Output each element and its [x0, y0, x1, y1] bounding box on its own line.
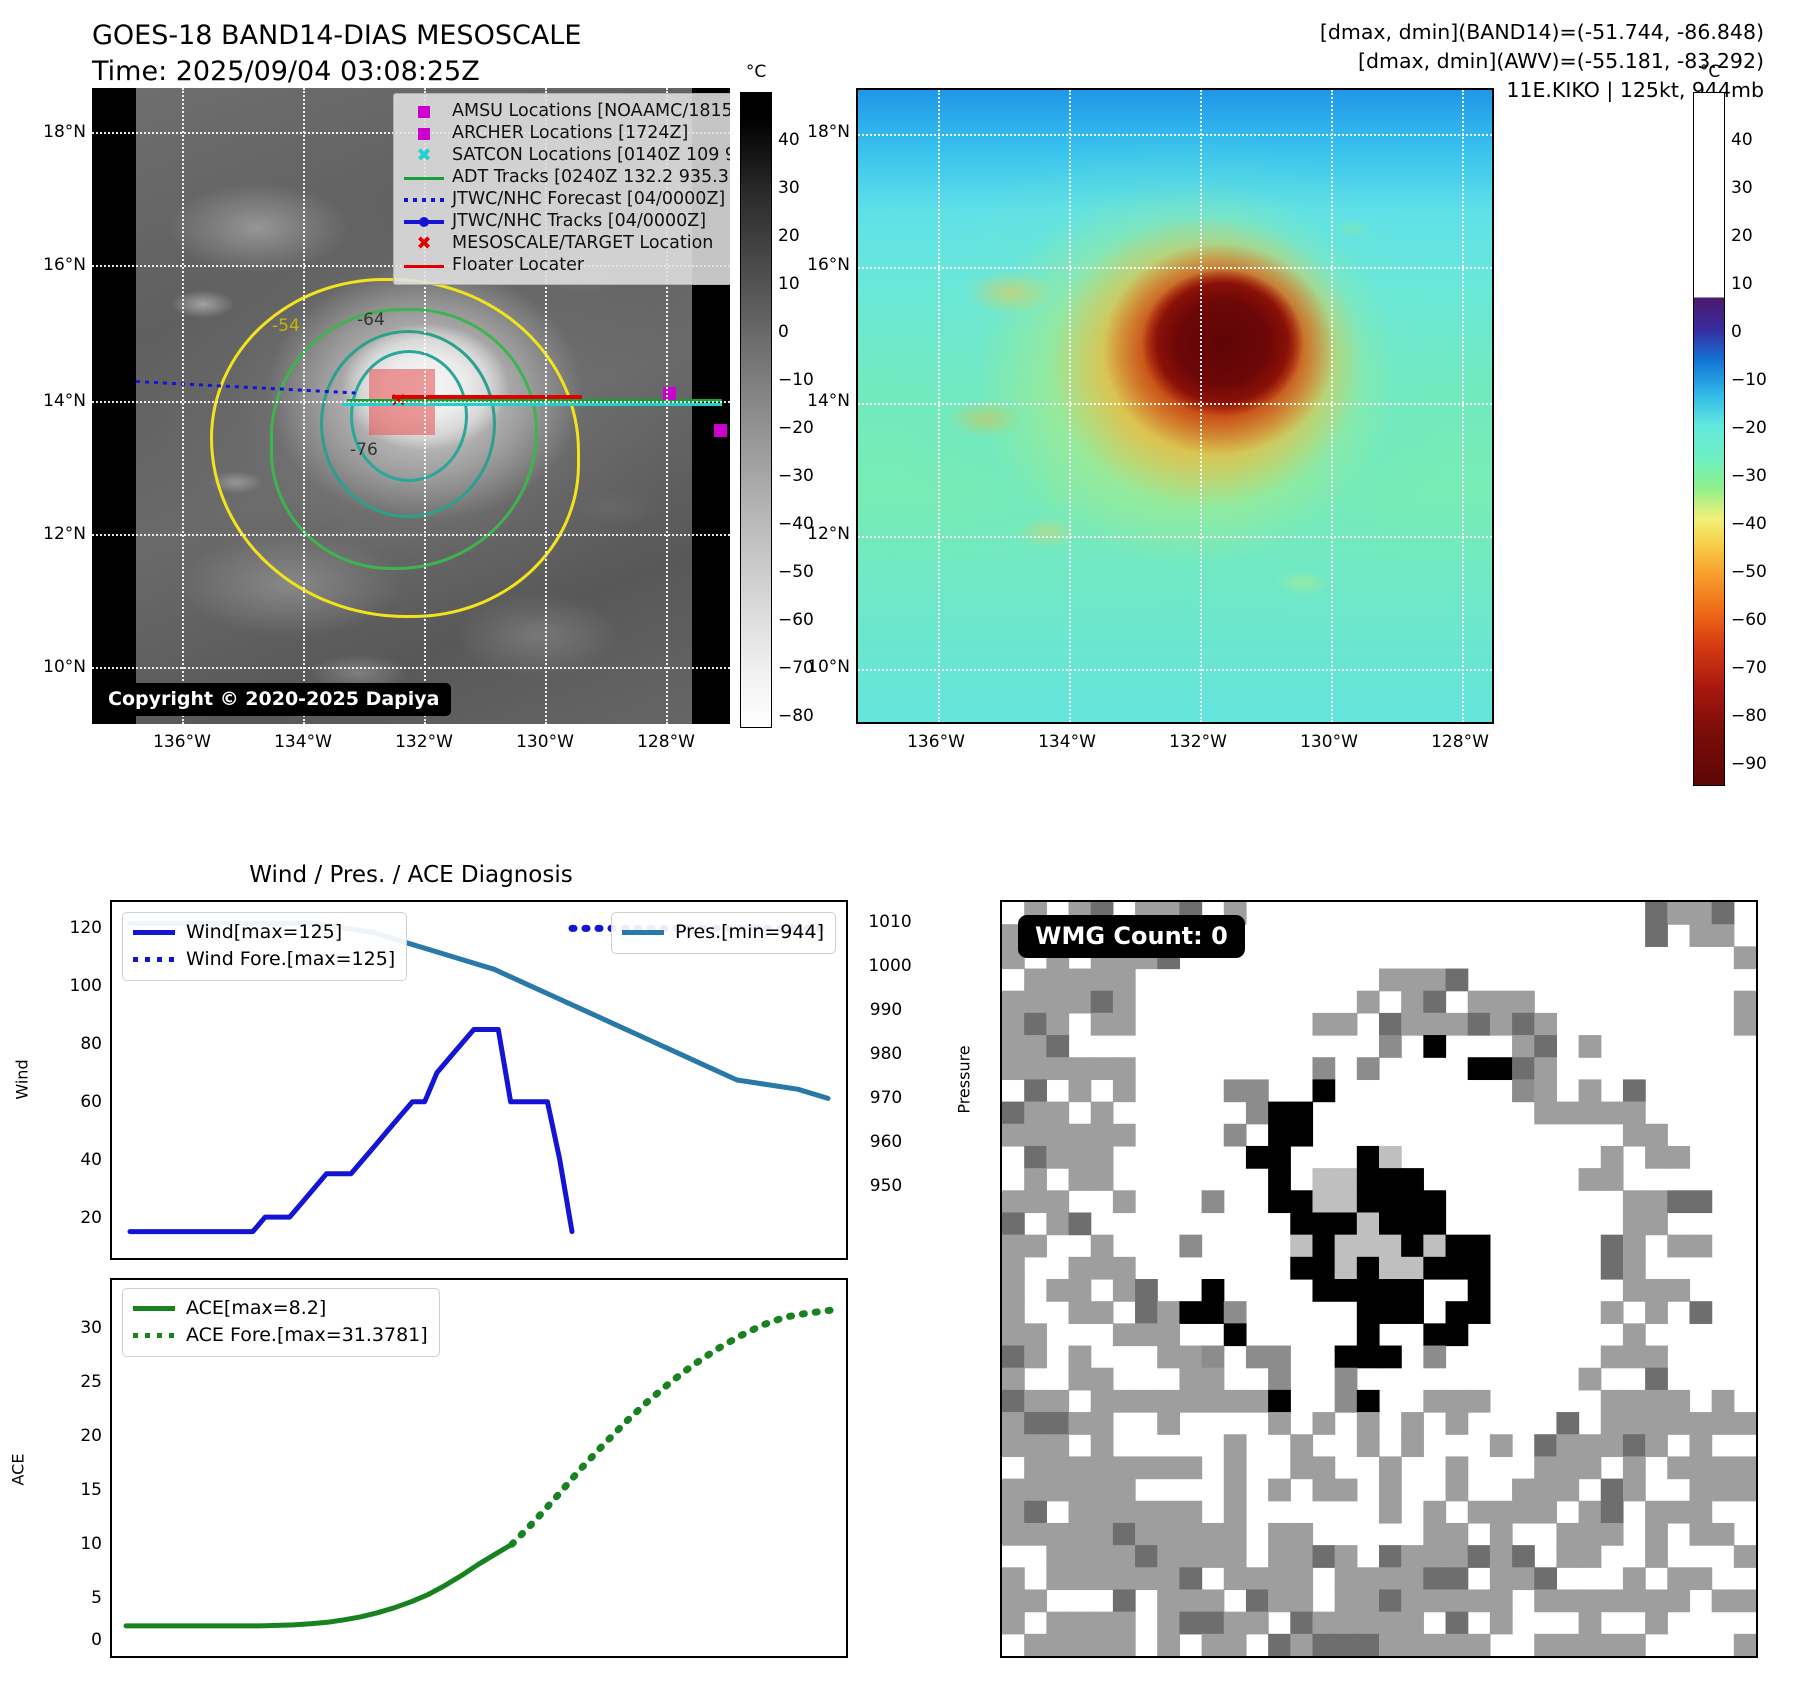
pressure-tick: 960	[870, 1132, 902, 1152]
enhanced-ir-colorbar	[1693, 92, 1725, 786]
wind-tick: 100	[70, 976, 102, 996]
grid-line-horizontal	[858, 134, 1492, 136]
legend-item[interactable]: JTWC/NHC Forecast [04/0000Z]	[401, 189, 730, 211]
grid-line-vertical	[303, 88, 305, 724]
legend-label: Pres.[min=944]	[675, 923, 824, 942]
colorbar-tick: 0	[1731, 322, 1742, 342]
line-icon	[131, 1306, 177, 1311]
legend-label: MESOSCALE/TARGET Location	[452, 235, 713, 253]
title-line-1: GOES-18 BAND14-DIAS MESOSCALE	[92, 20, 581, 51]
line-icon	[131, 930, 177, 935]
lon-tick: 136°W	[153, 732, 211, 752]
goes18-band14-grayscale-panel[interactable]: -54 -64 -76 ✕ AMSU Locations [NOAAMC/181…	[92, 88, 730, 724]
ace-tick: 5	[91, 1588, 102, 1608]
grid-line-horizontal	[858, 669, 1492, 671]
legend-label: ACE[max=8.2]	[186, 1299, 326, 1318]
lat-tick: 10°N	[43, 657, 86, 677]
grid-line-horizontal	[92, 667, 730, 669]
ace-tick: 30	[80, 1318, 102, 1338]
pressure-tick: 1000	[868, 956, 911, 976]
pressure-tick: 980	[870, 1044, 902, 1064]
colorbar-tick: −90	[1731, 754, 1767, 774]
wind-tick: 20	[80, 1208, 102, 1228]
floater-locater-line	[392, 395, 582, 399]
lon-tick: 134°W	[274, 732, 332, 752]
top-left-title: GOES-18 BAND14-DIAS MESOSCALE Time: 2025…	[92, 18, 581, 89]
colorbar-unit-label-left: °C	[736, 62, 776, 82]
legend-item[interactable]: Wind[max=125]	[131, 919, 395, 946]
colorbar-tick: −50	[1731, 562, 1767, 582]
grid-line-vertical	[1462, 90, 1464, 722]
legend-label: JTWC/NHC Tracks [04/0000Z]	[452, 213, 706, 231]
legend-label: SATCON Locations [0140Z 109 953]	[452, 147, 730, 165]
lat-tick: 10°N	[807, 657, 850, 677]
lat-tick: 18°N	[43, 122, 86, 142]
left-panel-lat-ticks: 18°N 16°N 14°N 12°N 10°N	[0, 88, 86, 724]
grid-line-vertical	[1069, 90, 1071, 722]
dmax-dmin-band14: [dmax, dmin](BAND14)=(-51.744, -86.848)	[1320, 20, 1764, 44]
right-panel-lon-ticks: 136°W 134°W 132°W 130°W 128°W	[856, 732, 1494, 758]
lon-tick: 134°W	[1038, 732, 1096, 752]
legend-label: Floater Locater	[452, 257, 584, 275]
grid-line-horizontal	[858, 403, 1492, 405]
grid-line-vertical	[1200, 90, 1202, 722]
pressure-tick: 1010	[868, 912, 911, 932]
colorbar-tick: 40	[1731, 130, 1753, 150]
legend-item[interactable]: ADT Tracks [0240Z 132.2 935.3]	[401, 167, 730, 189]
lat-tick: 12°N	[807, 524, 850, 544]
ace-tick: 0	[91, 1630, 102, 1650]
grid-line-vertical	[182, 88, 184, 724]
lon-tick: 132°W	[395, 732, 453, 752]
line-icon	[401, 265, 447, 268]
legend-item[interactable]: JTWC/NHC Tracks [04/0000Z]	[401, 211, 730, 233]
square-icon	[401, 106, 447, 118]
legend-item[interactable]: Wind Fore.[max=125]	[131, 946, 395, 973]
ace-tick: 15	[80, 1480, 102, 1500]
left-panel-lon-ticks: 136°W 134°W 132°W 130°W 128°W	[92, 732, 730, 758]
lat-tick: 14°N	[807, 391, 850, 411]
wmg-count-badge: WMG Count: 0	[1018, 915, 1245, 958]
contour-label-76: -76	[350, 440, 378, 460]
line-icon	[620, 930, 666, 935]
legend-label: JTWC/NHC Forecast [04/0000Z]	[452, 191, 725, 209]
pressure-legend: Pres.[min=944]	[611, 912, 836, 954]
legend-label: ADT Tracks [0240Z 132.2 935.3]	[452, 169, 730, 187]
colorbar-tick: −80	[1731, 706, 1767, 726]
lon-tick: 136°W	[907, 732, 965, 752]
colorbar-tick: −70	[1731, 658, 1767, 678]
line-icon	[401, 177, 447, 180]
lon-tick: 128°W	[1431, 732, 1489, 752]
wmg-grid-image	[1002, 902, 1756, 1656]
grid-line-horizontal	[858, 536, 1492, 538]
ace-y-ticks: 30 25 20 15 10 5 0	[20, 1278, 102, 1658]
title-line-2: Time: 2025/09/04 03:08:25Z	[92, 56, 480, 87]
wind-y-ticks: 120 100 80 60 40 20	[20, 900, 102, 1260]
pressure-tick: 950	[870, 1176, 902, 1196]
dotted-line-icon	[131, 1333, 177, 1338]
diagnosis-title: Wind / Pres. / ACE Diagnosis	[92, 862, 730, 888]
dashboard-root: GOES-18 BAND14-DIAS MESOSCALE Time: 2025…	[0, 0, 1797, 1690]
wind-legend: Wind[max=125] Wind Fore.[max=125]	[122, 912, 407, 981]
wmg-panel[interactable]: WMG Count: 0	[1000, 900, 1758, 1658]
grid-line-vertical	[1331, 90, 1333, 722]
ace-tick: 10	[80, 1534, 102, 1554]
pressure-y-ticks: 1010 1000 990 980 970 960 950	[860, 900, 930, 1260]
colorbar-tick: −30	[1731, 466, 1767, 486]
legend-item[interactable]: ACE Fore.[max=31.3781]	[131, 1322, 428, 1349]
colorbar-tick: 30	[1731, 178, 1753, 198]
legend-item[interactable]: ARCHER Locations [1724Z]	[401, 123, 730, 145]
ace-tick: 20	[80, 1426, 102, 1446]
legend-item[interactable]: ✖ MESOSCALE/TARGET Location	[401, 233, 730, 255]
grid-line-horizontal	[92, 401, 730, 403]
lat-tick: 18°N	[807, 122, 850, 142]
lon-tick: 130°W	[516, 732, 574, 752]
ace-chart[interactable]: ACE[max=8.2] ACE Fore.[max=31.3781]	[110, 1278, 848, 1658]
colorbar-tick: −20	[1731, 418, 1767, 438]
dotted-line-icon	[131, 957, 177, 962]
dotted-line-icon	[401, 198, 447, 202]
lat-tick: 12°N	[43, 524, 86, 544]
ace-tick: 25	[80, 1372, 102, 1392]
grid-line-horizontal	[858, 267, 1492, 269]
wind-pressure-chart[interactable]: Wind[max=125] Wind Fore.[max=125] Pres.[…	[110, 900, 848, 1260]
amsu-location-marker	[663, 387, 676, 400]
colorbar-unit-label-right: °C	[1690, 62, 1730, 82]
legend-item[interactable]: Floater Locater	[401, 255, 730, 277]
legend-label: AMSU Locations [NOAAMC/1815Z 104 973]	[452, 103, 730, 121]
legend-label: Wind Fore.[max=125]	[186, 950, 395, 969]
copyright-notice: Copyright © 2020-2025 Dapiya	[96, 683, 451, 716]
pressure-tick: 990	[870, 1000, 902, 1020]
wind-tick: 60	[80, 1092, 102, 1112]
legend-item[interactable]: AMSU Locations [NOAAMC/1815Z 104 973]	[401, 101, 730, 123]
mesoscale-target-x-marker: ✕	[390, 388, 407, 412]
legend-item[interactable]: ACE[max=8.2]	[131, 1295, 428, 1322]
legend-label: ARCHER Locations [1724Z]	[452, 125, 688, 143]
wind-tick: 120	[70, 918, 102, 938]
x-marker-icon: ✖	[401, 235, 447, 253]
wind-tick: 80	[80, 1034, 102, 1054]
map-legend: AMSU Locations [NOAAMC/1815Z 104 973] AR…	[393, 93, 730, 285]
x-marker-icon: ✖	[401, 147, 447, 165]
right-panel-lat-ticks: 18°N 16°N 14°N 12°N 10°N	[764, 88, 850, 724]
enhanced-ir-colorbar-ticks: 40 30 20 10 0 −10 −20 −30 −40 −50 −60 −7…	[1731, 92, 1793, 786]
legend-item[interactable]: ✖ SATCON Locations [0140Z 109 953]	[401, 145, 730, 167]
lon-tick: 132°W	[1169, 732, 1227, 752]
legend-item[interactable]: Pres.[min=944]	[620, 919, 824, 946]
contour-label-64: -64	[357, 310, 385, 330]
enhanced-ir-color-panel[interactable]	[856, 88, 1494, 724]
colorbar-tick: 10	[1731, 274, 1753, 294]
pressure-axis-label: Pressure	[955, 1045, 974, 1113]
legend-label: ACE Fore.[max=31.3781]	[186, 1326, 428, 1345]
colorbar-tick: 20	[1731, 226, 1753, 246]
square-icon	[401, 128, 447, 140]
wind-tick: 40	[80, 1150, 102, 1170]
ace-legend: ACE[max=8.2] ACE Fore.[max=31.3781]	[122, 1288, 440, 1357]
lat-tick: 14°N	[43, 391, 86, 411]
colorbar-tick: −60	[1731, 610, 1767, 630]
legend-label: Wind[max=125]	[186, 923, 342, 942]
lat-tick: 16°N	[43, 255, 86, 275]
colorbar-tick: −40	[1731, 514, 1767, 534]
contour-label-54: -54	[272, 316, 300, 336]
enhanced-ir-image	[858, 90, 1492, 722]
archer-location-marker	[714, 424, 727, 437]
line-with-marker-icon	[401, 220, 447, 224]
pressure-tick: 970	[870, 1088, 902, 1108]
grid-line-vertical	[938, 90, 940, 722]
lat-tick: 16°N	[807, 255, 850, 275]
lon-tick: 130°W	[1300, 732, 1358, 752]
colorbar-tick: −10	[1731, 370, 1767, 390]
grid-line-horizontal	[92, 534, 730, 536]
lon-tick: 128°W	[637, 732, 695, 752]
